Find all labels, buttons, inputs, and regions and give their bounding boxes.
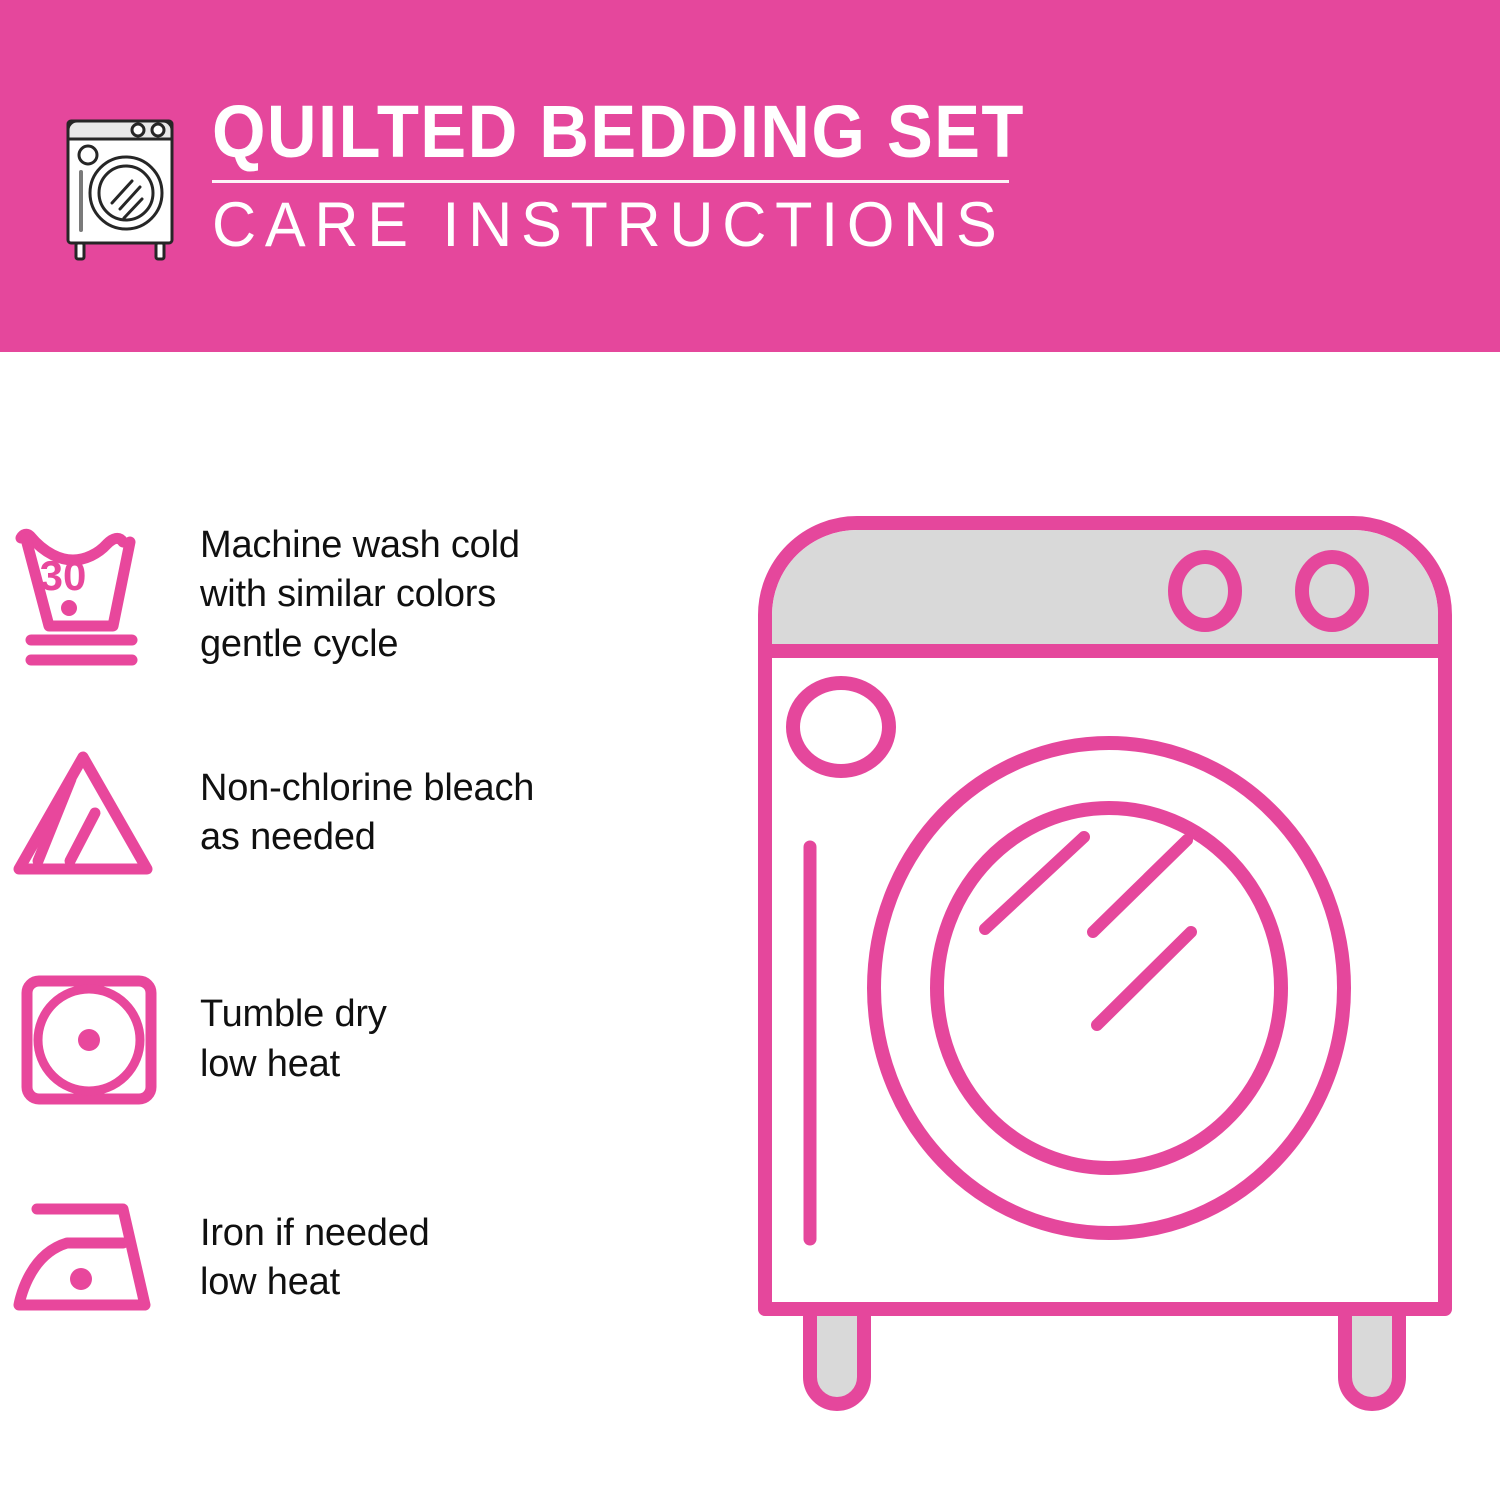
detergent-indicator <box>793 683 889 771</box>
low-heat-dot <box>70 1268 92 1290</box>
door-inner-ring <box>937 808 1281 1168</box>
tumble-dry-low-heat-icon <box>5 967 173 1112</box>
page-subtitle: CARE INSTRUCTIONS <box>212 194 1060 257</box>
knob-left[interactable] <box>1175 557 1235 625</box>
care-row: Iron if needed low heat <box>0 1193 740 1323</box>
non-chlorine-bleach-triangle-icon <box>5 743 173 883</box>
care-symbol-slot <box>0 967 178 1112</box>
header-title-group: QUILTED BEDDING SET CARE INSTRUCTIONS <box>212 96 1086 257</box>
care-label: Non-chlorine bleach as needed <box>200 764 534 863</box>
care-label: Tumble dry low heat <box>200 990 387 1089</box>
knob-right[interactable] <box>1302 557 1362 625</box>
title-divider <box>212 180 1009 183</box>
washing-machine-icon <box>62 104 184 264</box>
leg-right <box>1345 1309 1399 1404</box>
header-band: QUILTED BEDDING SET CARE INSTRUCTIONS <box>0 0 1500 352</box>
care-row: Non-chlorine bleach as needed <box>0 743 740 883</box>
page-title: QUILTED BEDDING SET <box>212 96 1025 167</box>
care-row: Tumble dry low heat <box>0 967 740 1112</box>
leg-left <box>810 1309 864 1404</box>
low-heat-dot <box>78 1029 100 1051</box>
care-symbol-slot <box>0 1193 178 1323</box>
care-symbol-slot <box>0 743 178 883</box>
care-symbol-slot: 30 <box>0 520 178 670</box>
iron-low-heat-icon <box>5 1193 173 1323</box>
wash-temperature-label: 30 <box>40 552 87 599</box>
gentle-dot <box>61 600 77 616</box>
wash-tub-30-gentle-icon: 30 <box>5 520 173 670</box>
care-label: Iron if needed low heat <box>200 1209 430 1308</box>
care-row: 30 Machine wash cold with similar colors… <box>0 520 740 670</box>
washing-machine-illustration <box>735 495 1475 1430</box>
care-instructions-page: QUILTED BEDDING SET CARE INSTRUCTIONS 30 <box>0 0 1500 1500</box>
header-content: QUILTED BEDDING SET CARE INSTRUCTIONS <box>62 96 1086 264</box>
care-label: Machine wash cold with similar colors ge… <box>200 521 520 669</box>
